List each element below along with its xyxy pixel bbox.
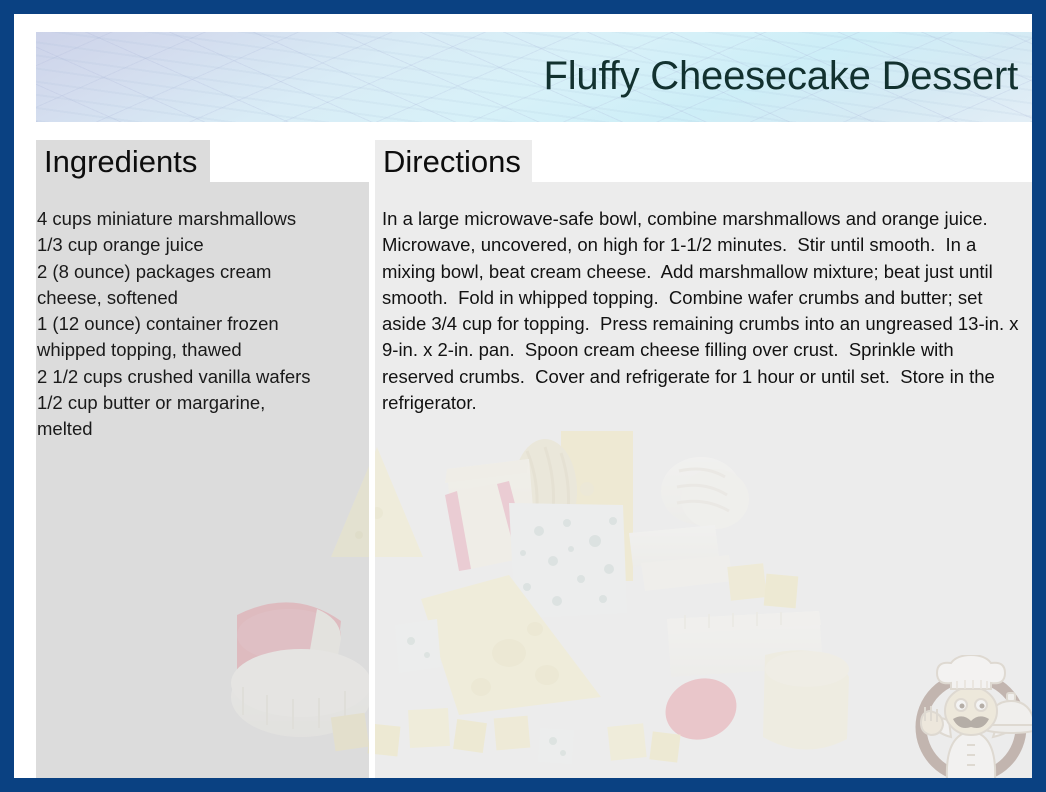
ingredients-header-tab: Ingredients: [36, 140, 210, 182]
list-item: 1 (12 ounce) container frozen whipped to…: [37, 311, 367, 364]
directions-text: In a large microwave-safe bowl, combine …: [382, 206, 1022, 416]
list-item: 2 (8 ounce) packages cream cheese, softe…: [37, 259, 367, 312]
right-gutter: [1032, 14, 1046, 792]
header-banner: Fluffy Cheesecake Dessert: [36, 32, 1032, 122]
directions-heading: Directions: [375, 146, 521, 177]
list-item: 2 1/2 cups crushed vanilla wafers: [37, 364, 367, 390]
ingredients-heading: Ingredients: [36, 146, 197, 177]
ingredients-list: 4 cups miniature marshmallows 1/3 cup or…: [37, 206, 367, 443]
page-title: Fluffy Cheesecake Dessert: [544, 56, 1018, 96]
list-item: 4 cups miniature marshmallows: [37, 206, 367, 232]
directions-header-tab: Directions: [375, 140, 532, 182]
panel-divider: [369, 182, 375, 786]
recipe-card: Fluffy Cheesecake Dessert Ingredients Di…: [0, 0, 1046, 792]
list-item: 1/3 cup orange juice: [37, 232, 367, 258]
list-item: 1/2 cup butter or margarine, melted: [37, 390, 367, 443]
